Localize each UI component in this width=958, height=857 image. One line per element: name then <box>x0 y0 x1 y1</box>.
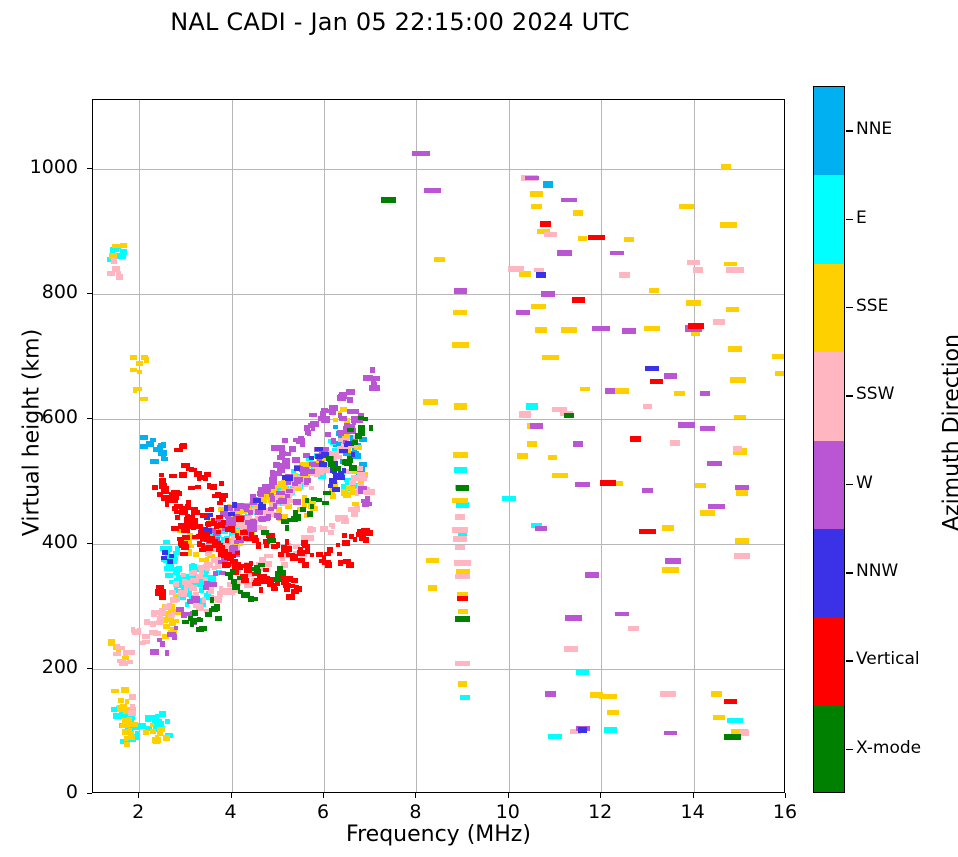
echo-point <box>232 502 237 508</box>
echo-point <box>221 520 225 526</box>
echo-point <box>271 544 278 549</box>
echo-point <box>192 535 197 539</box>
echo-point <box>309 469 315 474</box>
echo-point <box>282 438 288 443</box>
echo-point <box>662 567 679 573</box>
echo-point <box>167 632 176 637</box>
echo-point <box>191 570 198 576</box>
echo-point <box>325 562 332 568</box>
echo-point <box>162 486 169 492</box>
echo-point <box>573 210 582 216</box>
echo-point <box>289 446 296 451</box>
echo-point <box>346 562 354 568</box>
echo-point <box>516 310 530 315</box>
colorbar-segment-nnw <box>814 529 844 618</box>
echo-point <box>130 355 138 360</box>
colorbar-segment-vertical <box>814 617 844 706</box>
echo-point <box>578 236 587 241</box>
echo-point <box>230 569 235 574</box>
echo-point <box>215 564 221 570</box>
echo-point <box>155 735 159 740</box>
echo-point <box>686 300 701 306</box>
echo-point <box>452 527 468 533</box>
echo-point <box>156 620 164 626</box>
echo-point <box>155 589 160 596</box>
colorbar-segment-ssw <box>814 352 844 441</box>
echo-point <box>310 553 314 557</box>
echo-point <box>517 453 528 459</box>
echo-point <box>205 551 212 556</box>
echo-point <box>259 587 263 593</box>
echo-point <box>161 495 169 501</box>
echo-point <box>157 610 164 614</box>
echo-point <box>622 328 637 334</box>
echo-point <box>369 425 373 430</box>
echo-point <box>286 452 291 456</box>
y-axis-tick-label: 200 <box>8 656 78 678</box>
echo-point <box>713 715 725 720</box>
echo-point <box>181 527 189 533</box>
echo-point <box>258 487 266 492</box>
echo-point <box>228 512 235 517</box>
echo-point <box>209 608 218 613</box>
echo-point <box>181 612 186 618</box>
scatter-data-layer <box>93 100 784 792</box>
colorbar-segment-x-mode <box>814 706 844 793</box>
echo-point <box>266 484 275 489</box>
echo-point <box>234 540 240 544</box>
y-axis-tick <box>87 543 92 544</box>
echo-point <box>279 455 284 459</box>
echo-point <box>214 523 219 529</box>
echo-point <box>328 530 334 535</box>
echo-point <box>270 476 277 481</box>
echo-point <box>353 537 357 542</box>
echo-point <box>248 596 255 602</box>
colorbar-tick <box>846 130 853 132</box>
echo-point <box>165 719 170 724</box>
echo-point <box>189 468 197 472</box>
echo-point <box>210 582 217 586</box>
echo-point <box>347 458 353 464</box>
echo-point <box>576 669 589 674</box>
echo-point <box>296 438 305 444</box>
echo-point <box>195 485 202 489</box>
echo-point <box>331 523 335 529</box>
echo-point <box>336 543 340 547</box>
echo-point <box>624 237 633 243</box>
x-axis-tick <box>231 793 232 798</box>
echo-point <box>157 638 163 642</box>
echo-point <box>700 510 714 516</box>
echo-point <box>158 450 167 456</box>
x-axis-tick <box>323 793 324 798</box>
echo-point <box>423 399 438 404</box>
x-axis-label: Frequency (MHz) <box>92 822 785 847</box>
echo-point <box>285 494 289 499</box>
echo-point <box>169 474 177 478</box>
echo-point <box>588 235 605 240</box>
echo-point <box>643 404 652 409</box>
echo-point <box>276 491 285 496</box>
echo-point <box>772 354 785 359</box>
echo-point <box>311 497 317 501</box>
echo-point <box>454 288 467 294</box>
echo-point <box>150 723 154 728</box>
colorbar-tick <box>846 484 853 486</box>
echo-point <box>351 452 355 457</box>
echo-point <box>531 204 543 209</box>
echo-point <box>296 514 302 519</box>
echo-point <box>346 389 355 395</box>
echo-point <box>285 525 289 531</box>
colorbar-label-w: W <box>856 473 873 493</box>
echo-point <box>564 646 578 652</box>
echo-point <box>343 492 348 498</box>
echo-point <box>184 506 191 510</box>
echo-point <box>256 542 261 548</box>
echo-point <box>140 435 148 440</box>
echo-point <box>674 391 685 396</box>
echo-point <box>150 729 155 735</box>
echo-point <box>224 505 228 511</box>
echo-point <box>244 531 249 535</box>
colorbar-tick <box>846 749 853 751</box>
echo-point <box>290 554 298 560</box>
echo-point <box>118 698 124 703</box>
echo-point <box>144 357 150 363</box>
echo-point <box>197 617 202 622</box>
echo-point <box>163 604 171 609</box>
echo-point <box>171 526 179 531</box>
echo-point <box>452 498 468 503</box>
y-axis-tick-label: 0 <box>8 781 78 803</box>
echo-point <box>708 504 725 509</box>
echo-point <box>284 463 289 469</box>
echo-point <box>724 734 741 740</box>
echo-point <box>572 297 585 303</box>
colorbar-title: Azimuth Direction <box>940 268 958 598</box>
echo-point <box>306 478 311 483</box>
echo-point <box>552 473 568 478</box>
echo-point <box>455 574 471 579</box>
x-axis-tick-label: 14 <box>663 801 723 823</box>
echo-point <box>180 552 189 556</box>
echo-point <box>333 418 339 422</box>
echo-point <box>337 475 345 480</box>
echo-point <box>370 367 375 373</box>
echo-point <box>196 627 204 633</box>
y-axis-tick <box>87 793 92 794</box>
echo-point <box>426 558 439 563</box>
echo-point <box>157 727 166 732</box>
echo-point <box>454 403 467 410</box>
echo-point <box>116 274 122 279</box>
echo-point <box>280 557 285 561</box>
echo-point <box>127 660 133 665</box>
echo-point <box>734 415 746 420</box>
x-axis-tick <box>415 793 416 798</box>
echo-point <box>122 729 131 735</box>
echo-point <box>639 529 656 534</box>
echo-point <box>575 482 590 487</box>
echo-point <box>230 554 236 559</box>
echo-point <box>363 502 371 506</box>
echo-point <box>369 385 377 391</box>
echo-point <box>173 619 180 623</box>
echo-point <box>203 476 208 481</box>
x-axis-tick <box>138 793 139 798</box>
echo-point <box>199 548 205 552</box>
echo-point <box>159 595 166 600</box>
echo-point <box>664 373 677 379</box>
echo-point <box>278 552 285 557</box>
echo-point <box>263 516 270 521</box>
echo-point <box>721 164 732 170</box>
echo-point <box>327 547 333 552</box>
echo-point <box>273 577 280 583</box>
colorbar-tick <box>846 219 853 221</box>
colorbar-label-ssw: SSW <box>856 384 894 404</box>
echo-point <box>358 425 366 431</box>
echo-point <box>190 518 198 524</box>
echo-point <box>540 221 552 227</box>
echo-point <box>536 272 547 278</box>
x-axis-tick <box>600 793 601 798</box>
y-axis-tick <box>87 168 92 169</box>
echo-point <box>604 727 617 733</box>
echo-point <box>545 691 556 697</box>
echo-point <box>351 511 358 517</box>
echo-point <box>220 493 228 499</box>
echo-point <box>128 650 135 654</box>
echo-point <box>580 387 591 392</box>
echo-point <box>181 544 188 549</box>
echo-point <box>216 515 223 519</box>
echo-point <box>726 307 739 312</box>
y-axis-tick-label: 1000 <box>8 156 78 178</box>
echo-point <box>309 486 315 490</box>
colorbar-label-nne: NNE <box>856 119 892 139</box>
echo-point <box>128 710 136 716</box>
echo-point <box>269 493 274 498</box>
echo-point <box>428 585 437 591</box>
echo-point <box>236 516 244 522</box>
echo-point <box>693 267 703 272</box>
x-axis-tick <box>785 793 786 798</box>
echo-point <box>157 445 163 450</box>
colorbar-tick <box>846 660 853 662</box>
echo-point <box>530 423 544 429</box>
echo-point <box>175 597 180 603</box>
echo-point <box>244 537 253 542</box>
echo-point <box>307 511 314 517</box>
x-axis-tick-label: 16 <box>755 801 815 823</box>
echo-point <box>338 413 342 418</box>
echo-point <box>117 659 126 664</box>
echo-point <box>565 615 583 621</box>
echo-point <box>185 584 193 588</box>
echo-point <box>337 552 342 557</box>
echo-point <box>121 687 129 693</box>
echo-point <box>605 388 615 394</box>
echo-point <box>332 487 340 492</box>
echo-point <box>724 699 738 704</box>
echo-point <box>107 271 115 276</box>
echo-point <box>531 304 546 310</box>
echo-point <box>216 530 221 535</box>
echo-point <box>412 151 430 156</box>
echo-point <box>228 576 232 580</box>
colorbar-label-e: E <box>856 208 867 228</box>
echo-point <box>236 536 241 540</box>
echo-point <box>248 510 253 515</box>
echo-point <box>294 466 300 472</box>
echo-point <box>328 461 336 467</box>
echo-point <box>662 525 674 531</box>
echo-point <box>344 443 348 448</box>
echo-point <box>727 718 743 723</box>
echo-point <box>543 181 553 187</box>
echo-point <box>775 371 785 376</box>
echo-point <box>271 471 279 475</box>
echo-point <box>548 455 557 460</box>
echo-point <box>342 540 349 545</box>
echo-point <box>456 485 468 491</box>
echo-point <box>150 649 159 655</box>
echo-point <box>615 612 629 617</box>
echo-point <box>271 445 280 451</box>
echo-point <box>171 612 175 617</box>
echo-point <box>735 485 749 490</box>
echo-point <box>173 581 179 587</box>
echo-point <box>557 250 572 256</box>
echo-point <box>352 440 358 445</box>
x-axis-tick-label: 6 <box>293 801 353 823</box>
echo-point <box>366 489 374 495</box>
echo-point <box>232 584 240 590</box>
echo-point <box>130 368 137 372</box>
echo-point <box>129 694 136 700</box>
echo-point <box>548 734 563 740</box>
echo-point <box>700 391 710 396</box>
echo-point <box>358 486 367 490</box>
echo-point <box>276 500 283 504</box>
echo-point <box>304 425 310 430</box>
echo-point <box>320 526 328 533</box>
echo-point <box>592 326 610 331</box>
echo-point <box>734 553 749 559</box>
echo-point <box>300 507 306 513</box>
echo-point <box>322 501 329 505</box>
echo-point <box>281 519 289 524</box>
x-axis-tick-label: 12 <box>570 801 630 823</box>
echo-point <box>358 416 365 420</box>
echo-point <box>163 540 171 544</box>
echo-point <box>308 527 316 532</box>
echo-point <box>453 310 467 316</box>
echo-point <box>113 652 121 656</box>
echo-point <box>282 475 290 480</box>
echo-point <box>201 543 205 548</box>
echo-point <box>115 644 120 649</box>
echo-point <box>315 447 322 452</box>
echo-point <box>561 327 578 333</box>
echo-point <box>124 742 130 747</box>
echo-point <box>130 704 135 710</box>
echo-point <box>322 468 329 474</box>
echo-point <box>217 501 223 506</box>
echo-point <box>309 413 317 418</box>
echo-point <box>650 379 664 385</box>
echo-point <box>215 616 222 621</box>
echo-point <box>665 558 681 564</box>
echo-point <box>733 446 742 451</box>
echo-point <box>642 488 653 493</box>
echo-point <box>695 483 705 488</box>
echo-point <box>670 440 681 446</box>
echo-point <box>219 481 223 486</box>
echo-point <box>302 544 310 549</box>
echo-point <box>599 694 617 699</box>
echo-point <box>434 257 445 263</box>
echo-point <box>720 222 738 228</box>
echo-point <box>199 570 203 575</box>
echo-point <box>508 266 524 272</box>
echo-point <box>188 549 192 555</box>
echo-point <box>460 695 470 700</box>
echo-point <box>340 407 347 411</box>
colorbar-segment-sse <box>814 264 844 353</box>
echo-point <box>519 411 532 418</box>
echo-point <box>273 503 277 509</box>
echo-point <box>152 485 158 491</box>
echo-point <box>578 727 588 733</box>
colorbar-label-vertical: Vertical <box>856 649 920 669</box>
x-axis-tick-label: 4 <box>201 801 261 823</box>
colorbar-segment-w <box>814 441 844 530</box>
echo-point <box>264 543 270 548</box>
echo-point <box>249 561 253 566</box>
colorbar <box>813 86 845 793</box>
echo-point <box>151 610 157 616</box>
echo-point <box>150 459 158 465</box>
echo-point <box>286 594 295 600</box>
echo-point <box>607 710 619 715</box>
echo-point <box>150 438 156 443</box>
echo-point <box>359 535 366 541</box>
echo-point <box>179 444 186 449</box>
echo-point <box>310 504 314 509</box>
echo-point <box>645 366 659 371</box>
echo-point <box>351 409 359 414</box>
echo-point <box>644 326 661 331</box>
echo-point <box>205 508 210 512</box>
echo-point <box>724 262 737 267</box>
echo-point <box>162 550 168 555</box>
echo-point <box>456 502 468 508</box>
echo-point <box>707 461 722 466</box>
echo-point <box>120 243 127 248</box>
echo-point <box>525 176 539 181</box>
echo-point <box>331 467 337 471</box>
echo-point <box>454 560 472 566</box>
echo-point <box>258 492 264 498</box>
echo-point <box>457 596 468 601</box>
echo-point <box>285 583 291 588</box>
echo-point <box>159 711 166 717</box>
echo-point <box>173 494 180 500</box>
